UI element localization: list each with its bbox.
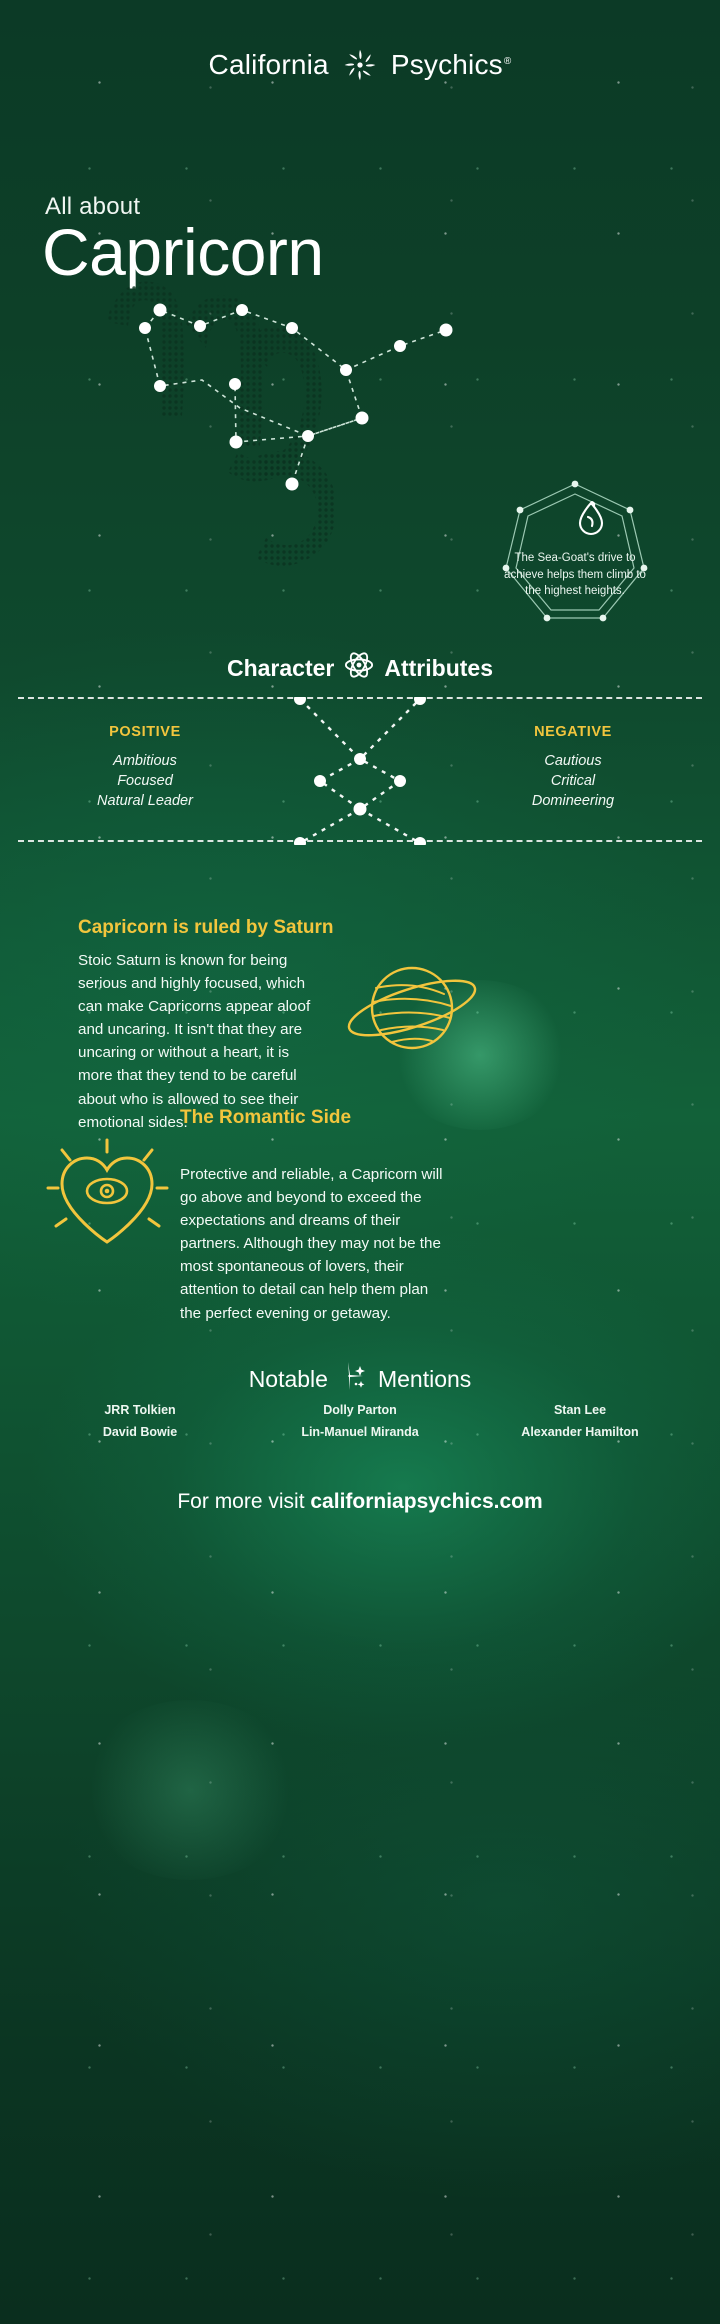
notable-title-left: Notable [249,1366,328,1393]
notable-name: JRR Tolkien [30,1403,250,1417]
notable-name: David Bowie [30,1425,250,1439]
notable-title-right: Mentions [378,1366,471,1393]
character-attributes-title: Character Attributes [0,650,720,686]
notable-name: Stan Lee [470,1403,690,1417]
negative-heading: NEGATIVE [458,724,688,740]
negative-item: Cautious [458,751,688,771]
brand-logo[interactable]: California Psychics® [0,48,720,82]
saturn-planet-icon [340,950,490,1070]
footer-cta: For more visit californiapsychics.com [0,1490,720,1514]
heart-eye-icon [40,1136,175,1261]
positive-item: Ambitious [30,751,260,771]
positive-item: Natural Leader [30,791,260,811]
notable-name: Alexander Hamilton [470,1425,690,1439]
notable-names-grid: JRR Tolkien Dolly Parton Stan Lee David … [30,1403,690,1439]
notable-name: Dolly Parton [250,1403,470,1417]
footer-prefix: For more visit [177,1490,310,1513]
negative-attributes: NEGATIVE Cautious Critical Domineering [458,724,688,811]
notable-mentions-title: Notable Mentions [0,1359,720,1399]
starburst-icon [343,48,377,82]
sea-goat-badge: The Sea-Goat's drive to achieve helps th… [480,478,670,638]
positive-item: Focused [30,771,260,791]
attributes-title-right: Attributes [384,655,493,682]
brand-name-left: California [209,49,329,81]
negative-item: Domineering [458,791,688,811]
atom-icon [344,650,374,686]
romantic-body: Protective and reliable, a Capricorn wil… [180,1163,448,1325]
brand-name-right: Psychics® [391,49,512,81]
badge-text: The Sea-Goat's drive to achieve helps th… [480,550,670,600]
saturn-heading: Capricorn is ruled by Saturn [78,917,334,939]
positive-attributes: POSITIVE Ambitious Focused Natural Leade… [30,724,260,811]
infographic-page: California Psychics® All about Capricorn [0,0,720,2324]
attributes-title-left: Character [227,655,334,682]
nebula-glow-2 [80,1700,300,1880]
footer-site-link[interactable]: californiapsychics.com [310,1490,542,1513]
negative-item: Critical [458,771,688,791]
registered-mark: ® [504,56,512,67]
romantic-heading: The Romantic Side [180,1107,351,1129]
positive-heading: POSITIVE [30,724,260,740]
sparkle-star-icon [336,1359,370,1399]
notable-name: Lin-Manuel Miranda [250,1425,470,1439]
